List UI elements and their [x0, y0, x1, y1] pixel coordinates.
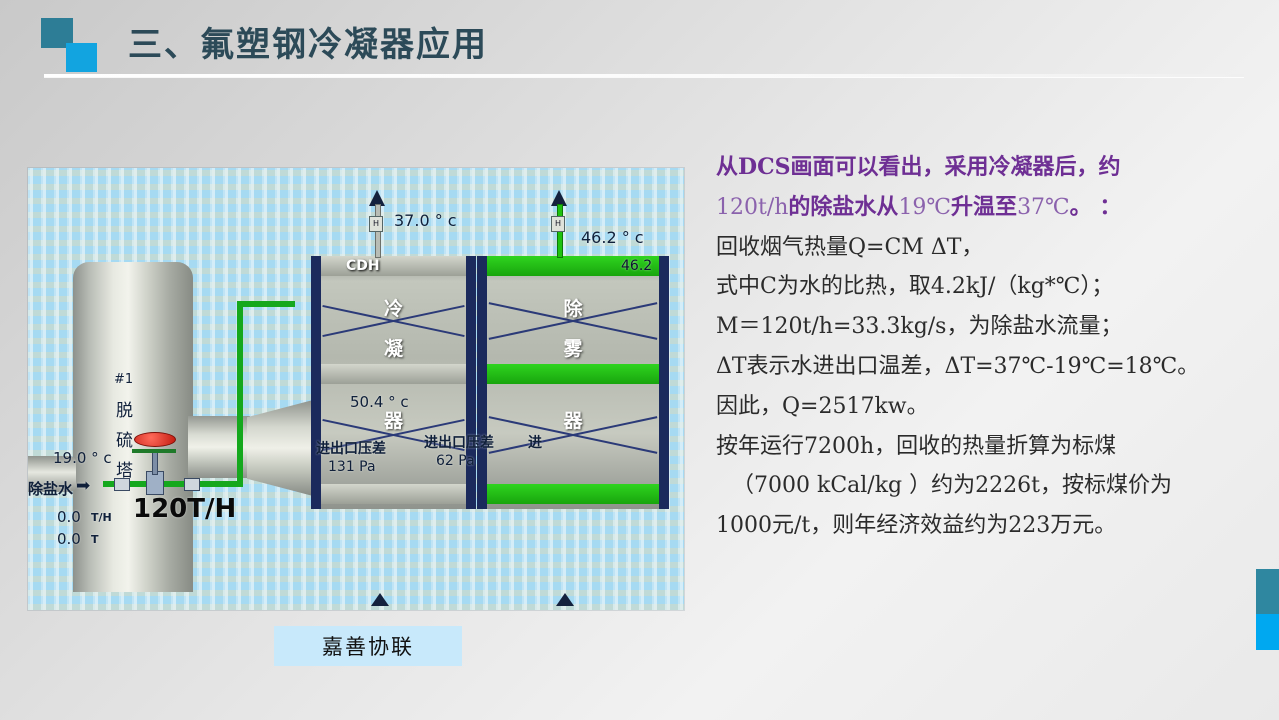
dcs-screenshot: #1 脱 硫 塔 冷 凝 器 CDH 50.4 ° c 除 雾 器 46.2	[28, 168, 684, 610]
tower-name-char-2: 硫	[116, 426, 133, 451]
body-line-8: 按年运行7200h，回收的热量折算为标煤	[716, 432, 1256, 463]
water-flow-big-label: 120T/H	[133, 494, 236, 524]
body-line-9: （7000 kCal/kg ）约为2226t，按标煤价为	[716, 471, 1256, 502]
accent-bar-teal	[1256, 569, 1279, 614]
body-line-6: ΔT表示水进出口温差，ΔT=37℃-19℃=18℃。	[716, 352, 1256, 383]
inlet-gate-valve-icon	[114, 478, 130, 491]
pressure-drop-label-2: 进出口压差	[424, 432, 494, 452]
water-flow-rate-unit: T/H	[91, 511, 112, 524]
body-line-4: 式中C为水的比热，取4.2kJ/（kg*℃）；	[716, 272, 1256, 303]
condenser-outlet-temp: 37.0 ° c	[394, 211, 457, 230]
water-inlet-arrow-icon: ➡	[76, 476, 90, 496]
water-total-value: 0.0	[57, 530, 81, 548]
slide-root: 三、氟塑钢冷凝器应用 #1 脱 硫 塔 冷 凝 器 CDH 50.4 ° c	[0, 0, 1279, 720]
demister-band-mid	[487, 364, 659, 384]
accent-bar-blue	[1256, 614, 1279, 650]
outlet-gate-valve-icon	[184, 478, 200, 491]
body-line-7: 因此，Q=2517kw。	[716, 392, 1256, 423]
water-top-pipe	[237, 301, 295, 307]
pressure-drop-value-1: 131 Pa	[328, 459, 376, 475]
pressure-drop-label-1: 进出口压差	[316, 438, 386, 458]
pressure-drop-value-2: 62 Pa	[436, 453, 475, 469]
demister-outlet-temp-badge: 46.2	[621, 258, 652, 274]
demister-label-char-1: 除	[487, 294, 659, 321]
demister-outlet-temp: 46.2 ° c	[581, 228, 644, 247]
water-riser-pipe	[237, 301, 243, 487]
condenser-outlet-sensor-icon: H	[369, 216, 383, 232]
demister-housing: 除 雾 器	[477, 256, 669, 509]
demister-band-bottom	[487, 484, 659, 504]
body-line-2-part-1: 120t/h	[716, 195, 788, 220]
body-line-5: M＝120t/h=33.3kg/s，为除盐水流量；	[716, 312, 1256, 343]
body-line-3: 回收烟气热量Q=CM ΔT，	[716, 233, 1256, 264]
demister-label-char-3: 器	[487, 406, 659, 433]
condenser-label-char-2: 凝	[321, 334, 466, 361]
logo-mark	[41, 18, 113, 68]
control-valve-wheel-icon	[132, 449, 176, 453]
demister-outlet-sensor-icon: H	[551, 216, 565, 232]
title-divider	[44, 74, 1244, 77]
condenser-header-label: CDH	[346, 258, 380, 274]
body-line-2: 120t/h的除盐水从19℃升温至37℃。 ：	[716, 192, 1256, 224]
condenser-inlet-arrow-icon	[371, 593, 389, 606]
body-line-1: 从DCS画面可以看出，采用冷凝器后，约	[716, 152, 1256, 183]
body-line-2-part-6: 。 ：	[1070, 194, 1122, 220]
pressure-drop-label-3: 进	[528, 432, 542, 452]
condenser-inlet-temp: 50.4 ° c	[350, 393, 409, 411]
body-line-2-part-5: 37℃	[1017, 195, 1070, 220]
water-flow-rate-value: 0.0	[57, 508, 81, 526]
demister-label-char-2: 雾	[487, 334, 659, 361]
demister-brace-lower	[487, 384, 659, 484]
condenser-band-bottom	[321, 484, 466, 504]
body-line-2-part-3: 19℃	[898, 195, 951, 220]
water-total-unit: T	[91, 533, 99, 546]
page-title: 三、氟塑钢冷凝器应用	[128, 17, 488, 66]
body-line-2-part-2: 的除盐水从	[788, 194, 898, 220]
condenser-band-top	[321, 256, 466, 276]
tower-name-char-1: 脱	[116, 396, 133, 421]
condenser-label-char-1: 冷	[321, 294, 466, 321]
body-line-2-part-4: 升温至	[951, 194, 1017, 220]
tower-tag-label: #1	[114, 372, 133, 387]
demister-inlet-arrow-icon	[556, 593, 574, 606]
body-line-10: 1000元/t，则年经济效益约为223万元。	[716, 511, 1256, 542]
body-text-block: 从DCS画面可以看出，采用冷凝器后，约 120t/h的除盐水从19℃升温至37℃…	[716, 152, 1256, 551]
water-temp-label: 19.0 ° c	[53, 449, 112, 467]
image-caption: 嘉善协联	[274, 626, 462, 666]
condenser-band-mid	[321, 364, 466, 384]
water-inlet-label: 除盐水	[28, 478, 73, 499]
logo-square-light-icon	[66, 43, 97, 72]
control-valve-actuator-icon	[134, 432, 176, 447]
